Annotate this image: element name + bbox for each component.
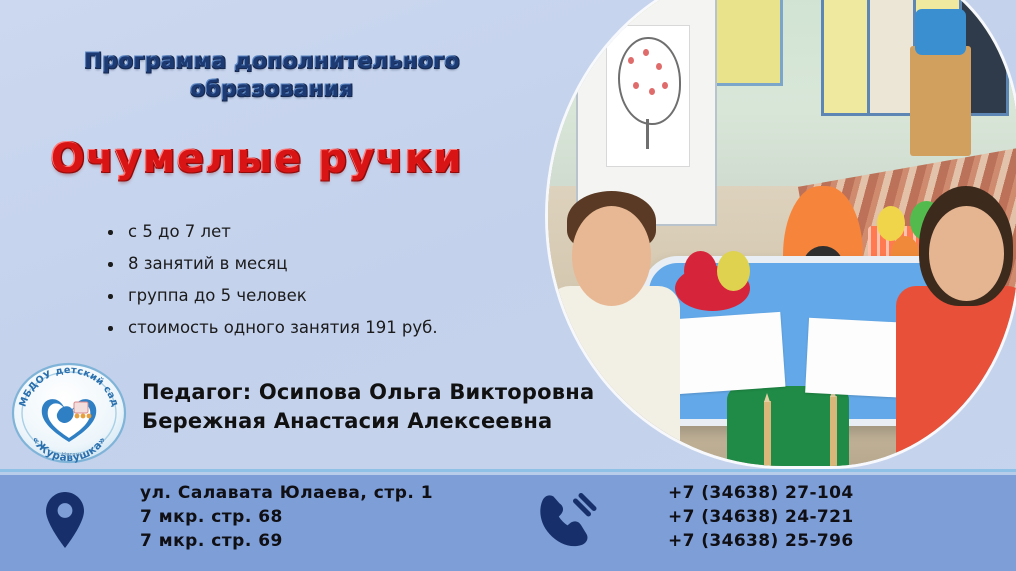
teacher-names: Педагог: Осипова Ольга Викторовна Бережн… bbox=[142, 378, 594, 436]
address-block: ул. Салавата Юлаева, стр. 1 7 мкр. стр. … bbox=[140, 481, 433, 553]
list-item: стоимость одного занятия 191 руб. bbox=[106, 318, 438, 337]
logo-city-text: г. Нягань bbox=[55, 452, 82, 458]
photo-tree-drawing bbox=[618, 37, 681, 125]
photo-girl-face bbox=[929, 206, 1004, 301]
photo-small-chair bbox=[910, 46, 971, 156]
address-line-3: 7 мкр. стр. 69 bbox=[140, 529, 433, 553]
phone-handset-icon bbox=[536, 492, 598, 550]
photo-red-apple bbox=[684, 251, 717, 291]
poster-canvas: Программа дополнительного образования Оч… bbox=[0, 0, 1016, 571]
photo-boy-face bbox=[572, 206, 652, 306]
classroom-photo bbox=[548, 0, 1016, 466]
list-item: 8 занятий в месяц bbox=[106, 254, 438, 273]
list-item: с 5 до 7 лет bbox=[106, 222, 438, 241]
teacher-line-2: Бережная Анастасия Алексеевна bbox=[142, 407, 594, 436]
photo-girl-body bbox=[896, 286, 1016, 456]
phone-line-3: +7 (34638) 25-796 bbox=[668, 529, 854, 553]
teacher-line-1: Педагог: Осипова Ольга Викторовна bbox=[142, 378, 594, 407]
program-title: Очумелые ручки bbox=[42, 136, 472, 182]
address-line-1: ул. Салавата Юлаева, стр. 1 bbox=[140, 481, 433, 505]
program-details-list: с 5 до 7 лет 8 занятий в месяц группа до… bbox=[106, 222, 438, 350]
photo-drawing-sheet bbox=[606, 25, 690, 167]
address-line-2: 7 мкр. стр. 68 bbox=[140, 505, 433, 529]
kindergarten-logo: МБДОУ детский сад «Журавушка» г. Нягань bbox=[10, 362, 128, 464]
program-subtitle: Программа дополнительного образования bbox=[42, 48, 502, 105]
map-pin-icon bbox=[44, 490, 86, 550]
phone-line-2: +7 (34638) 24-721 bbox=[668, 505, 854, 529]
photo-yellow-apple bbox=[717, 251, 750, 291]
list-item: группа до 5 человек bbox=[106, 286, 438, 305]
phone-line-1: +7 (34638) 27-104 bbox=[668, 481, 854, 505]
logo-flower-patch bbox=[74, 402, 88, 413]
photo-content bbox=[548, 0, 1016, 466]
phone-block: +7 (34638) 27-104 +7 (34638) 24-721 +7 (… bbox=[668, 481, 854, 553]
logo-chicks bbox=[75, 414, 92, 419]
